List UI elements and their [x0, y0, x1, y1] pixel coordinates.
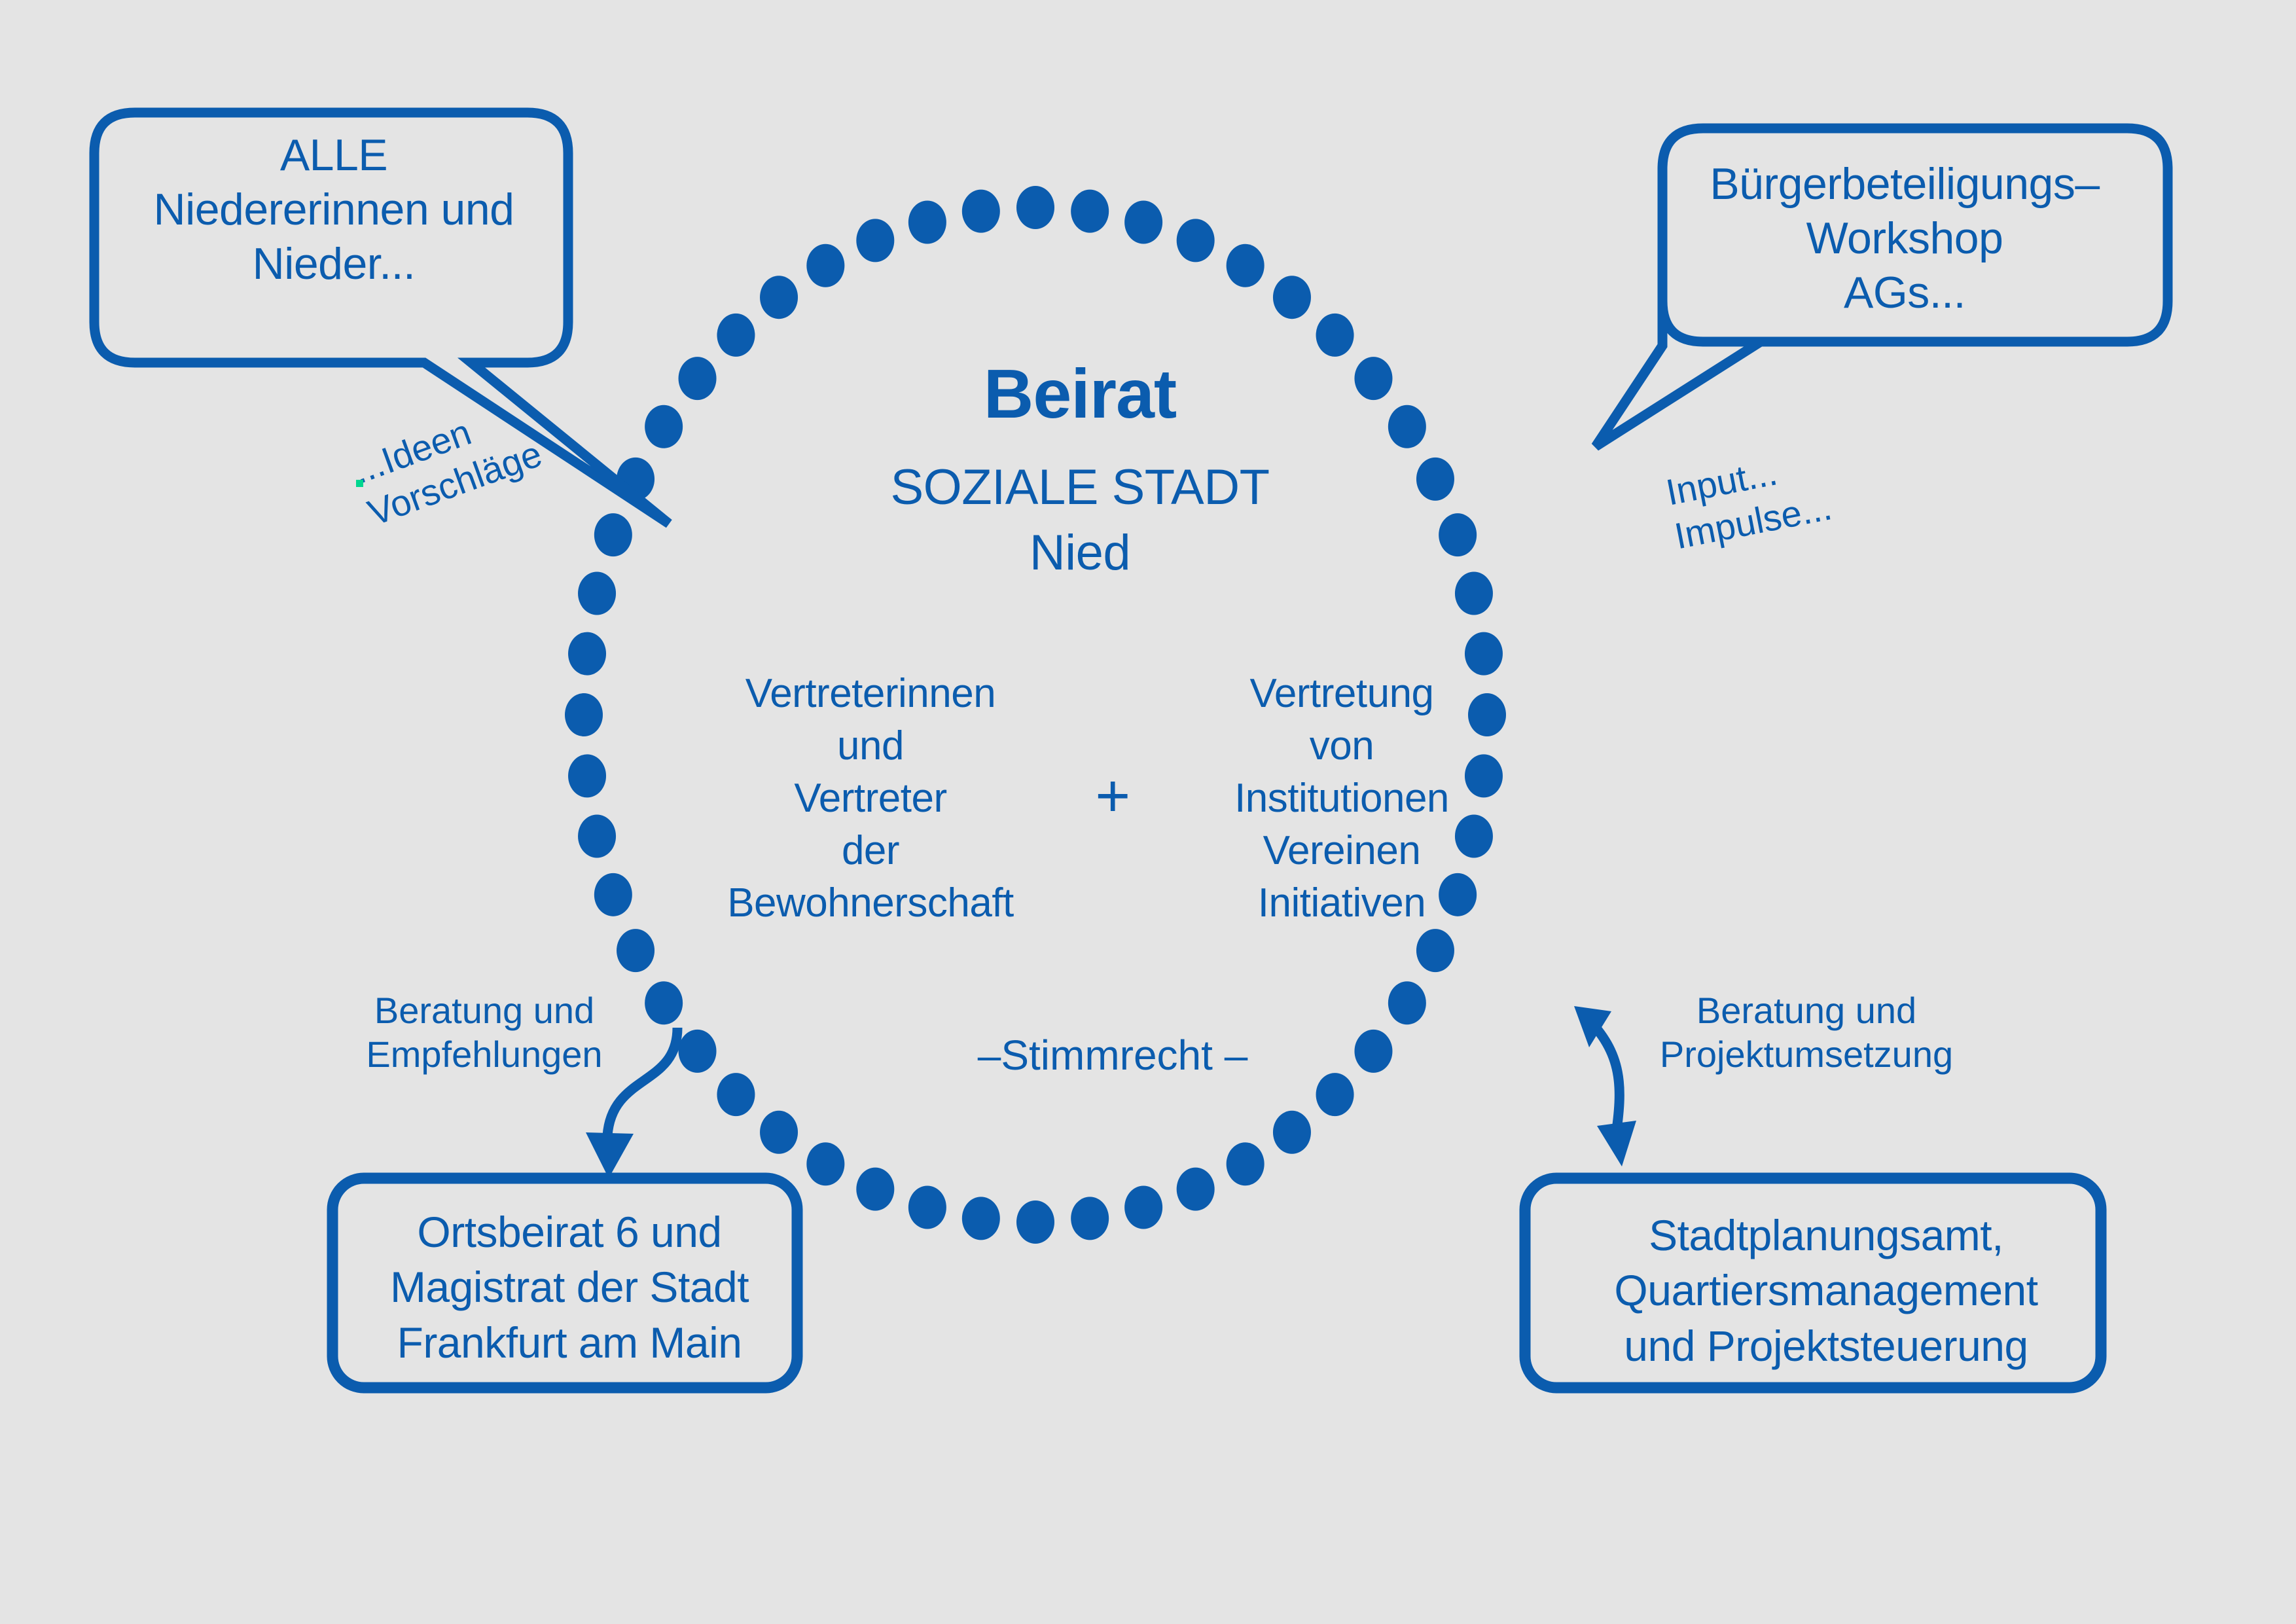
- box-ortsbeirat-text: Ortsbeirat 6 und Magistrat der Stadt Fra…: [340, 1204, 798, 1370]
- circle-dot: [1124, 1185, 1162, 1229]
- circle-dot: [568, 754, 606, 797]
- circle-dot: [856, 1168, 894, 1211]
- circle-dot: [1416, 458, 1454, 501]
- speech-bubble-right-text: Bürgerbeteiligungs– Workshop AGs...: [1676, 157, 2134, 320]
- circle-dot: [1071, 190, 1109, 233]
- circle-dot: [1227, 244, 1265, 287]
- circle-dot: [806, 1142, 844, 1185]
- circle-dot: [760, 276, 798, 319]
- circle-dot: [806, 244, 844, 287]
- circle-dot: [565, 693, 603, 736]
- circle-dot: [1273, 276, 1311, 319]
- circle-dot: [1177, 219, 1215, 262]
- circle-dot: [760, 1111, 798, 1154]
- circle-dot: [1016, 1200, 1054, 1244]
- circle-dot: [1439, 513, 1477, 556]
- circle-column-left: Vertreterinnen und Vertreter der Bewohne…: [668, 668, 1073, 929]
- circle-dot: [1316, 1073, 1354, 1116]
- circle-dot: [645, 981, 683, 1024]
- circle-dot: [1273, 1111, 1311, 1154]
- circle-dot: [717, 314, 755, 357]
- circle-dot: [1016, 186, 1054, 229]
- circle-dot: [1455, 572, 1493, 615]
- circle-dot: [1071, 1197, 1109, 1240]
- circle-dot: [962, 1197, 1000, 1240]
- circle-dot: [908, 201, 946, 244]
- circle-dot: [594, 873, 632, 916]
- circle-dot: [578, 814, 616, 857]
- circle-title: Beirat: [753, 353, 1407, 435]
- circle-dot: [679, 357, 717, 400]
- circle-dot: [1124, 201, 1162, 244]
- arrow-beirat-to-stadtplanungsamt: [1574, 1006, 1636, 1166]
- green-speck-artifact: [356, 480, 363, 487]
- circle-dot: [1416, 929, 1454, 972]
- circle-dot: [1354, 1030, 1392, 1073]
- circle-dot: [962, 190, 1000, 233]
- circle-dot: [1316, 314, 1354, 357]
- circle-dot: [717, 1073, 755, 1116]
- circle-dot: [1388, 981, 1426, 1024]
- arrow-caption-left: Beratung und Empfehlungen: [347, 988, 622, 1076]
- speech-bubble-left-text: ALLE Niedererinnen und Nieder...: [105, 128, 563, 291]
- circle-column-right: Vertretung von Institutionen Vereinen In…: [1165, 668, 1518, 929]
- circle-dot: [679, 1030, 717, 1073]
- circle-dot: [594, 513, 632, 556]
- circle-dot: [1177, 1168, 1215, 1211]
- circle-dot: [617, 929, 655, 972]
- circle-dot: [908, 1185, 946, 1229]
- diagram-canvas: ALLE Niedererinnen und Nieder... Bürgerb…: [0, 0, 2296, 1624]
- arrow-caption-right: Beratung und Projektumsetzung: [1636, 988, 1977, 1076]
- circle-subtitle-line1: SOZIALE STADT: [753, 458, 1407, 517]
- plus-icon: +: [1073, 766, 1152, 826]
- circle-dot: [568, 632, 606, 676]
- box-stadtplanungsamt-text: Stadtplanungsamt, Quartiersmanagement un…: [1538, 1208, 2114, 1373]
- circle-footer-stimmrecht: –Stimmrecht –: [936, 1031, 1289, 1081]
- circle-dot: [856, 219, 894, 262]
- circle-dot: [578, 572, 616, 615]
- circle-dot: [645, 405, 683, 448]
- circle-subtitle-line2: Nied: [753, 524, 1407, 583]
- circle-dot: [1227, 1142, 1265, 1185]
